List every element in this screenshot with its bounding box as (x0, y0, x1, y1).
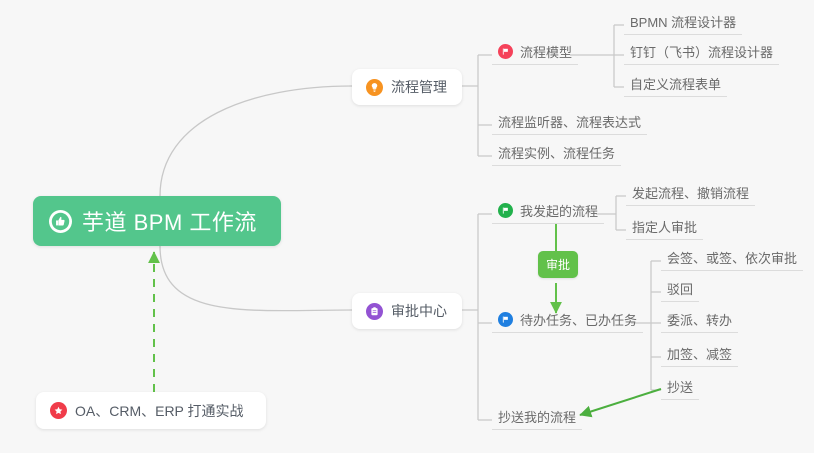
node-label: 审批中心 (391, 301, 447, 321)
node-label: 委派、转办 (667, 310, 732, 329)
flag-icon (498, 44, 513, 59)
node-my-initiated-process[interactable]: 我发起的流程 (492, 201, 604, 224)
node-delegate-transfer[interactable]: 委派、转办 (661, 310, 738, 333)
node-integration-practice[interactable]: OA、CRM、ERP 打通实战 (36, 392, 266, 429)
lightbulb-icon (366, 79, 383, 96)
node-process-model[interactable]: 流程模型 (492, 42, 578, 65)
star-icon (50, 402, 67, 419)
edge-root-to-process-management (160, 86, 352, 196)
node-countersign-orsign-sequential[interactable]: 会签、或签、依次审批 (661, 248, 803, 271)
node-bpmn-designer[interactable]: BPMN 流程设计器 (624, 12, 742, 35)
node-label: 我发起的流程 (520, 201, 598, 220)
node-label: 会签、或签、依次审批 (667, 248, 797, 267)
node-label: 加签、减签 (667, 344, 732, 363)
node-label: 驳回 (667, 279, 693, 298)
node-label: 流程实例、流程任务 (498, 143, 615, 162)
node-custom-process-form[interactable]: 自定义流程表单 (624, 74, 727, 97)
node-label: 发起流程、撤销流程 (632, 183, 749, 202)
flag-icon (498, 203, 513, 218)
node-label: 抄送我的流程 (498, 407, 576, 426)
node-label: 流程监听器、流程表达式 (498, 112, 641, 131)
node-label: 指定人审批 (632, 217, 697, 236)
edge-root-to-approval-center (160, 246, 352, 311)
approval-badge[interactable]: 审批 (538, 251, 578, 278)
root-label: 芋道 BPM 工作流 (82, 205, 257, 237)
node-label: OA、CRM、ERP 打通实战 (75, 401, 244, 421)
root-node[interactable]: 芋道 BPM 工作流 (33, 196, 281, 246)
node-process-management[interactable]: 流程管理 (352, 69, 462, 105)
node-add-remove-sign[interactable]: 加签、减签 (661, 344, 738, 367)
node-label: BPMN 流程设计器 (630, 12, 736, 31)
node-label: 待办任务、已办任务 (520, 310, 637, 329)
node-assignee-approval[interactable]: 指定人审批 (626, 217, 703, 240)
node-instance-task[interactable]: 流程实例、流程任务 (492, 143, 621, 166)
node-listener-expression[interactable]: 流程监听器、流程表达式 (492, 112, 647, 135)
node-label: 抄送 (667, 377, 693, 396)
node-label: 流程模型 (520, 42, 572, 61)
node-todo-done-task[interactable]: 待办任务、已办任务 (492, 310, 643, 333)
flag-icon (498, 312, 513, 327)
node-reject[interactable]: 驳回 (661, 279, 699, 302)
node-dingtalk-feishu-designer[interactable]: 钉钉（飞书）流程设计器 (624, 42, 779, 65)
node-cc-to-me-process[interactable]: 抄送我的流程 (492, 407, 582, 430)
node-label: 钉钉（飞书）流程设计器 (630, 42, 773, 61)
node-cc[interactable]: 抄送 (661, 377, 699, 400)
node-approval-center[interactable]: 审批中心 (352, 293, 462, 329)
node-label: 自定义流程表单 (630, 74, 721, 93)
thumbs-up-icon (49, 210, 72, 233)
node-start-cancel-process[interactable]: 发起流程、撤销流程 (626, 183, 755, 206)
clipboard-icon (366, 303, 383, 320)
node-label: 流程管理 (391, 77, 447, 97)
arrow-cc-to-cc-process (580, 389, 661, 415)
mindmap-canvas: 芋道 BPM 工作流 流程管理 流程模型 BPMN 流程设计器 钉钉（飞书）流程… (0, 0, 814, 453)
